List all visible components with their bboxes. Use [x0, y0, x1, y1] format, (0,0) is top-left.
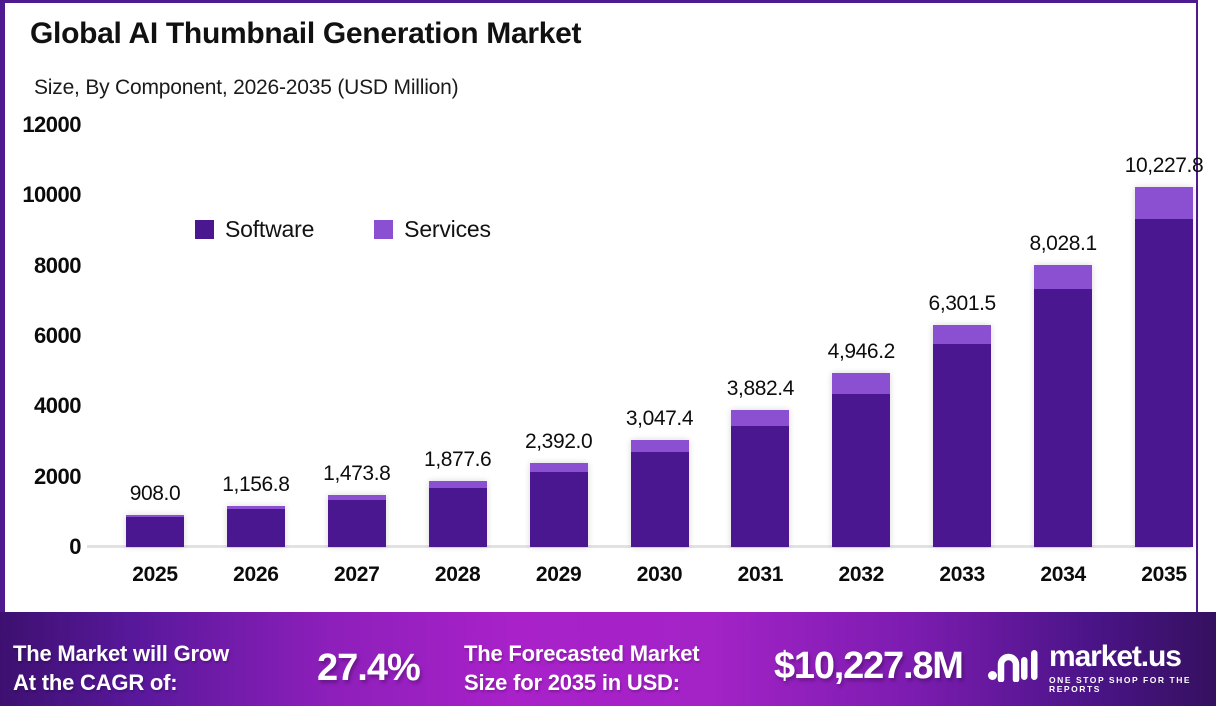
bar-stack[interactable]: 908.0 [126, 515, 184, 547]
bar-value-label: 2,392.0 [525, 430, 592, 454]
cagr-caption-line-2: At the CAGR of: [13, 668, 229, 697]
bar-stack[interactable]: 1,877.6 [429, 481, 487, 547]
bar-value-label: 1,156.8 [222, 473, 289, 497]
bar-stack[interactable]: 1,156.8 [227, 506, 285, 547]
y-axis-tick: 6000 [34, 323, 81, 349]
bar-value-label: 908.0 [130, 482, 181, 506]
bar-segment-services[interactable] [1034, 265, 1092, 290]
bar-stack[interactable]: 1,473.8 [328, 495, 386, 547]
chart-frame: Global AI Thumbnail Generation Market Si… [0, 0, 1198, 612]
brand-text: market.us ONE STOP SHOP FOR THE REPORTS [1049, 642, 1216, 693]
page-title: Global AI Thumbnail Generation Market [30, 17, 581, 51]
bar-segment-software[interactable] [731, 426, 789, 547]
forecast-caption-line-2: Size for 2035 in USD: [464, 668, 699, 697]
cagr-caption: The Market will Grow At the CAGR of: [13, 639, 229, 697]
x-axis-tick: 2032 [839, 563, 885, 587]
x-axis-tick: 2033 [939, 563, 985, 587]
y-axis-tick: 4000 [34, 393, 81, 419]
bar-segment-software[interactable] [832, 394, 890, 547]
bar-group[interactable]: 2,392.02029 [530, 463, 588, 547]
brand-logo[interactable]: market.us ONE STOP SHOP FOR THE REPORTS [988, 642, 1216, 693]
y-axis-tick: 2000 [34, 464, 81, 490]
forecast-caption-line-1: The Forecasted Market [464, 639, 699, 668]
bar-group[interactable]: 908.02025 [126, 515, 184, 547]
bar-segment-services[interactable] [832, 373, 890, 394]
bar-stack[interactable]: 2,392.0 [530, 463, 588, 547]
bar-group[interactable]: 3,882.42031 [731, 410, 789, 547]
bar-stack[interactable]: 8,028.1 [1034, 265, 1092, 547]
bar-group[interactable]: 1,877.62028 [429, 481, 487, 547]
footer-banner: The Market will Grow At the CAGR of: 27.… [0, 612, 1216, 706]
x-axis-tick: 2031 [738, 563, 784, 587]
bar-group[interactable]: 1,156.82026 [227, 506, 285, 547]
bar-value-label: 10,227.8 [1125, 154, 1204, 178]
bar-value-label: 8,028.1 [1029, 232, 1096, 256]
bar-segment-software[interactable] [933, 344, 991, 547]
bar-value-label: 1,473.8 [323, 462, 390, 486]
x-axis-tick: 2035 [1141, 563, 1187, 587]
y-axis-tick: 0 [69, 534, 81, 560]
bar-group[interactable]: 4,946.22032 [832, 373, 890, 547]
bar-group[interactable]: 8,028.12034 [1034, 265, 1092, 547]
bar-group[interactable]: 1,473.82027 [328, 495, 386, 547]
bar-segment-software[interactable] [126, 517, 184, 547]
bar-segment-software[interactable] [631, 452, 689, 547]
bar-stack[interactable]: 10,227.8 [1135, 187, 1193, 547]
x-axis-tick: 2027 [334, 563, 380, 587]
brand-name: market.us [1049, 642, 1216, 672]
bar-stack[interactable]: 3,047.4 [631, 440, 689, 547]
plot-area: 020004000600080001000012000 908.020251,1… [91, 125, 1189, 547]
x-axis-tick: 2030 [637, 563, 683, 587]
bar-stack[interactable]: 4,946.2 [832, 373, 890, 547]
bar-segment-software[interactable] [429, 488, 487, 547]
y-axis-tick: 8000 [34, 253, 81, 279]
brand-tagline: ONE STOP SHOP FOR THE REPORTS [1049, 676, 1216, 693]
chart-infographic: Global AI Thumbnail Generation Market Si… [0, 0, 1216, 706]
bar-value-label: 1,877.6 [424, 448, 491, 472]
bar-segment-services[interactable] [1135, 187, 1193, 218]
bar-value-label: 3,047.4 [626, 407, 693, 431]
bar-group[interactable]: 3,047.42030 [631, 440, 689, 547]
bar-segment-services[interactable] [933, 325, 991, 343]
x-axis-tick: 2026 [233, 563, 279, 587]
bar-group[interactable]: 6,301.52033 [933, 325, 991, 547]
bar-segment-services[interactable] [429, 481, 487, 488]
bar-segment-software[interactable] [1135, 219, 1193, 547]
bar-segment-services[interactable] [631, 440, 689, 452]
bar-group[interactable]: 10,227.82035 [1135, 187, 1193, 547]
cagr-value: 27.4% [317, 647, 420, 690]
cagr-caption-line-1: The Market will Grow [13, 639, 229, 668]
x-axis-tick: 2029 [536, 563, 582, 587]
forecast-caption: The Forecasted Market Size for 2035 in U… [464, 639, 699, 697]
x-axis-tick: 2028 [435, 563, 481, 587]
y-axis-tick: 12000 [22, 112, 81, 138]
bar-segment-services[interactable] [530, 463, 588, 472]
bar-stack[interactable]: 3,882.4 [731, 410, 789, 547]
bar-segment-software[interactable] [227, 509, 285, 547]
forecast-value: $10,227.8M [774, 645, 963, 688]
chart-subtitle: Size, By Component, 2026-2035 (USD Milli… [34, 76, 458, 100]
x-axis-tick: 2025 [132, 563, 178, 587]
bar-stack[interactable]: 6,301.5 [933, 325, 991, 547]
x-axis-tick: 2034 [1040, 563, 1086, 587]
bar-value-label: 6,301.5 [929, 292, 996, 316]
bar-segment-software[interactable] [328, 500, 386, 547]
bar-value-label: 3,882.4 [727, 377, 794, 401]
market-us-logo-icon [988, 648, 1038, 687]
bar-segment-software[interactable] [1034, 289, 1092, 547]
bar-segment-software[interactable] [530, 472, 588, 547]
bar-value-label: 4,946.2 [828, 340, 895, 364]
bar-segment-services[interactable] [731, 410, 789, 426]
y-axis-tick: 10000 [22, 182, 81, 208]
